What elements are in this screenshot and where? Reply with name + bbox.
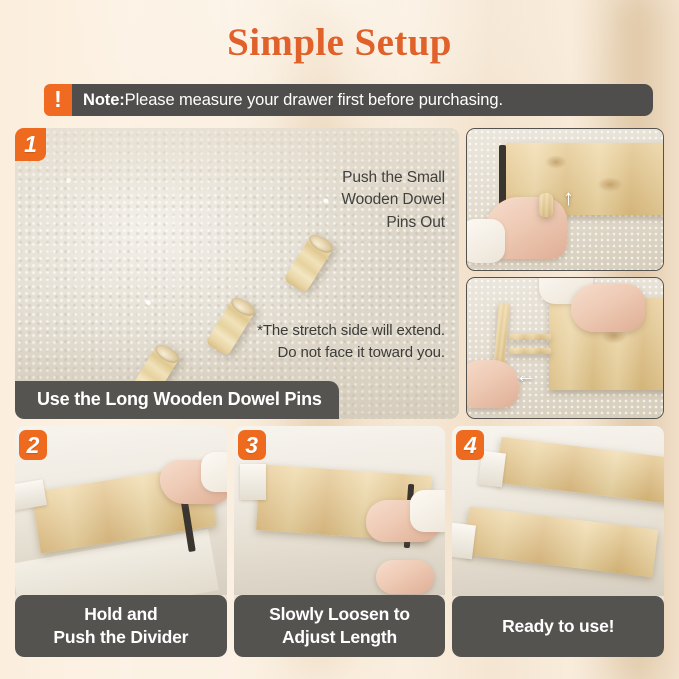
wood-knot [545,155,567,169]
sleeve-3 [410,490,446,532]
step-number-3: 3 [238,430,266,460]
note-banner: ! Note: Please measure your drawer first… [44,84,653,116]
step-1-instruction: Push the Small Wooden Dowel Pins Out [341,167,445,234]
step-4-caption: Ready to use! [452,596,664,657]
step-1-insets: ↑ ← [466,128,664,419]
step-2-caption-line-1: Hold and [19,603,223,625]
step-1-photo-dowel-pins: 1 Push the Small Wooden Dowel Pins Out *… [15,128,459,419]
exclamation-icon: ! [44,84,72,116]
step-1-warning: *The stretch side will extend. Do not fa… [257,320,445,364]
step-1-block: 1 Push the Small Wooden Dowel Pins Out *… [15,128,664,419]
dowel-pin-inset-a [539,193,553,217]
stretch-rail-2 [509,348,551,354]
step-1-warning-line-1: *The stretch side will extend. [257,320,445,342]
step-1-instruction-line-2: Wooden Dowel [341,189,445,211]
step-2-panel: Hold and Push the Divider 2 [15,426,227,657]
step-4-panel: Ready to use! 4 [452,426,664,657]
step-4-photo [452,426,664,596]
step-4-caption-line-1: Ready to use! [456,615,660,637]
step-3-caption-line-1: Slowly Loosen to [238,603,442,625]
step-number-2: 2 [19,430,47,460]
step-1-warning-line-2: Do not face it toward you. [257,342,445,364]
step-2-caption: Hold and Push the Divider [15,595,227,657]
step-1-instruction-line-1: Push the Small [341,167,445,189]
note-text: Note: Please measure your drawer first b… [72,84,653,116]
inset-a-scene: ↑ [467,129,663,270]
step-number-4: 4 [456,430,484,460]
inset-push-dowel-pin-out: ↑ [466,128,664,271]
step-1-instruction-line-3: Pins Out [341,212,445,234]
page-content: Simple Setup ! Note: Please measure your… [0,0,679,679]
arrow-up-icon: ↑ [563,187,574,209]
note-label: Note: [83,91,125,110]
hand-b-right [571,284,645,332]
page-title: Simple Setup [15,0,664,62]
step-3-panel: Slowly Loosen to Adjust Length 3 [234,426,446,657]
steps-bottom-row: Hold and Push the Divider 2 Slowly Loose… [15,426,664,657]
step-3-caption-line-2: Adjust Length [238,626,442,648]
inset-b-scene: ← [467,278,663,419]
arrow-left-icon: ← [515,364,537,386]
hand-3b [376,560,434,594]
step-1-caption: Use the Long Wooden Dowel Pins [15,381,339,419]
wood-knot [597,177,623,192]
hand-b-left [467,360,519,408]
sleeve-a [467,219,505,263]
step-3-caption: Slowly Loosen to Adjust Length [234,595,446,657]
divider-bracket-3 [240,464,266,500]
step-number-1: 1 [15,128,46,161]
inset-stretch-divider: ← [466,277,664,420]
step-2-caption-line-2: Push the Divider [19,626,223,648]
note-message: Please measure your drawer first before … [125,91,503,110]
sleeve-2 [201,452,227,492]
stretch-rail-1 [509,334,551,340]
